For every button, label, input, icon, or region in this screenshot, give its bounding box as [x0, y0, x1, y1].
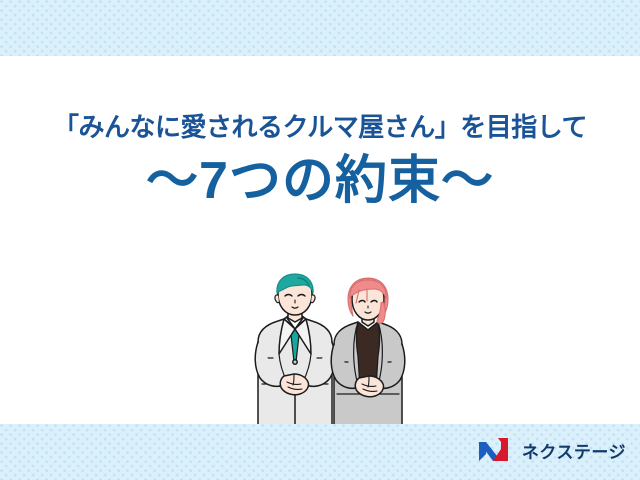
page-subtitle: 〜7つの約束〜: [0, 153, 640, 210]
two-staff-bowing-illustration: [232, 272, 412, 432]
page-title: 「みんなに愛されるクルマ屋さん」を目指して: [0, 112, 640, 143]
nextage-n-mark-icon: [477, 437, 515, 463]
nextage-logo-text: ネクステージ: [522, 438, 626, 463]
female-staff-figure: [331, 278, 405, 432]
male-staff-figure: [255, 274, 335, 432]
polka-dot-band-top: [0, 0, 640, 56]
headings-group: 「みんなに愛されるクルマ屋さん」を目指して 〜7つの約束〜: [0, 112, 640, 210]
promo-banner: 「みんなに愛されるクルマ屋さん」を目指して 〜7つの約束〜: [0, 0, 640, 480]
nextage-logo: ネクステージ: [477, 437, 626, 463]
